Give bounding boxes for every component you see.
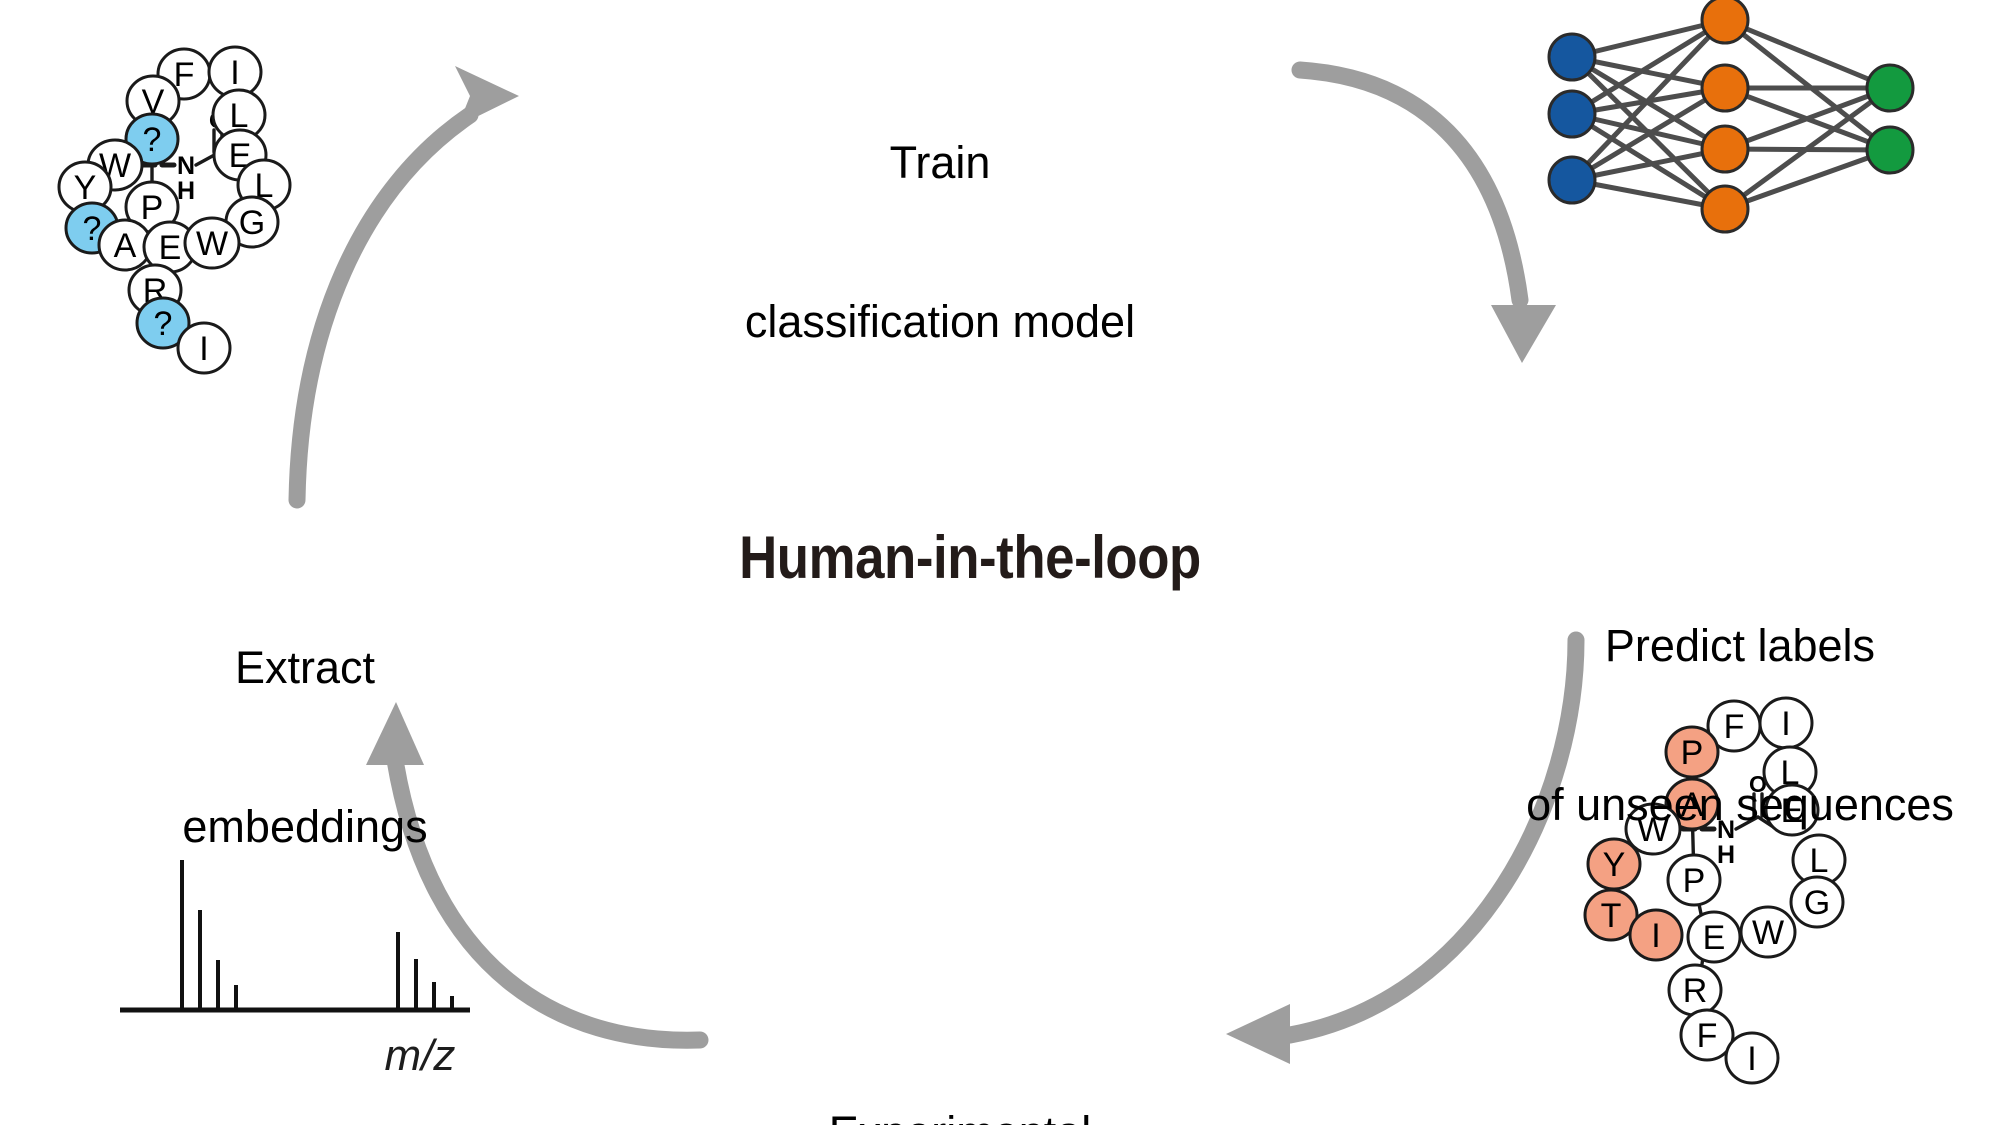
label-extract-line1: Extract [95,641,515,694]
label-extract-embeddings: Extract embeddings [95,535,515,960]
label-train-line2: classification model [660,295,1220,348]
label-experimental-line1: Experimental [730,1106,1190,1125]
label-predict-line1: Predict labels [1480,619,2000,672]
label-train-classification-model: Train classification model [660,30,1220,455]
label-experimental-labeling: Experimental labeling [730,1000,1190,1125]
label-train-line1: Train [660,136,1220,189]
label-extract-line2: embeddings [95,800,515,853]
page-title: Human-in-the-loop [662,523,1278,594]
spectrum-axis-label: m/z [330,1030,510,1082]
human-in-the-loop-figure: N H O FIVL?EWLYPG?AEWR?I N H O FIPLAEWLY… [0,0,2000,1125]
label-predict-line2: of unseen sequences [1480,778,2000,831]
label-predict-labels: Predict labels of unseen sequences [1480,513,2000,938]
